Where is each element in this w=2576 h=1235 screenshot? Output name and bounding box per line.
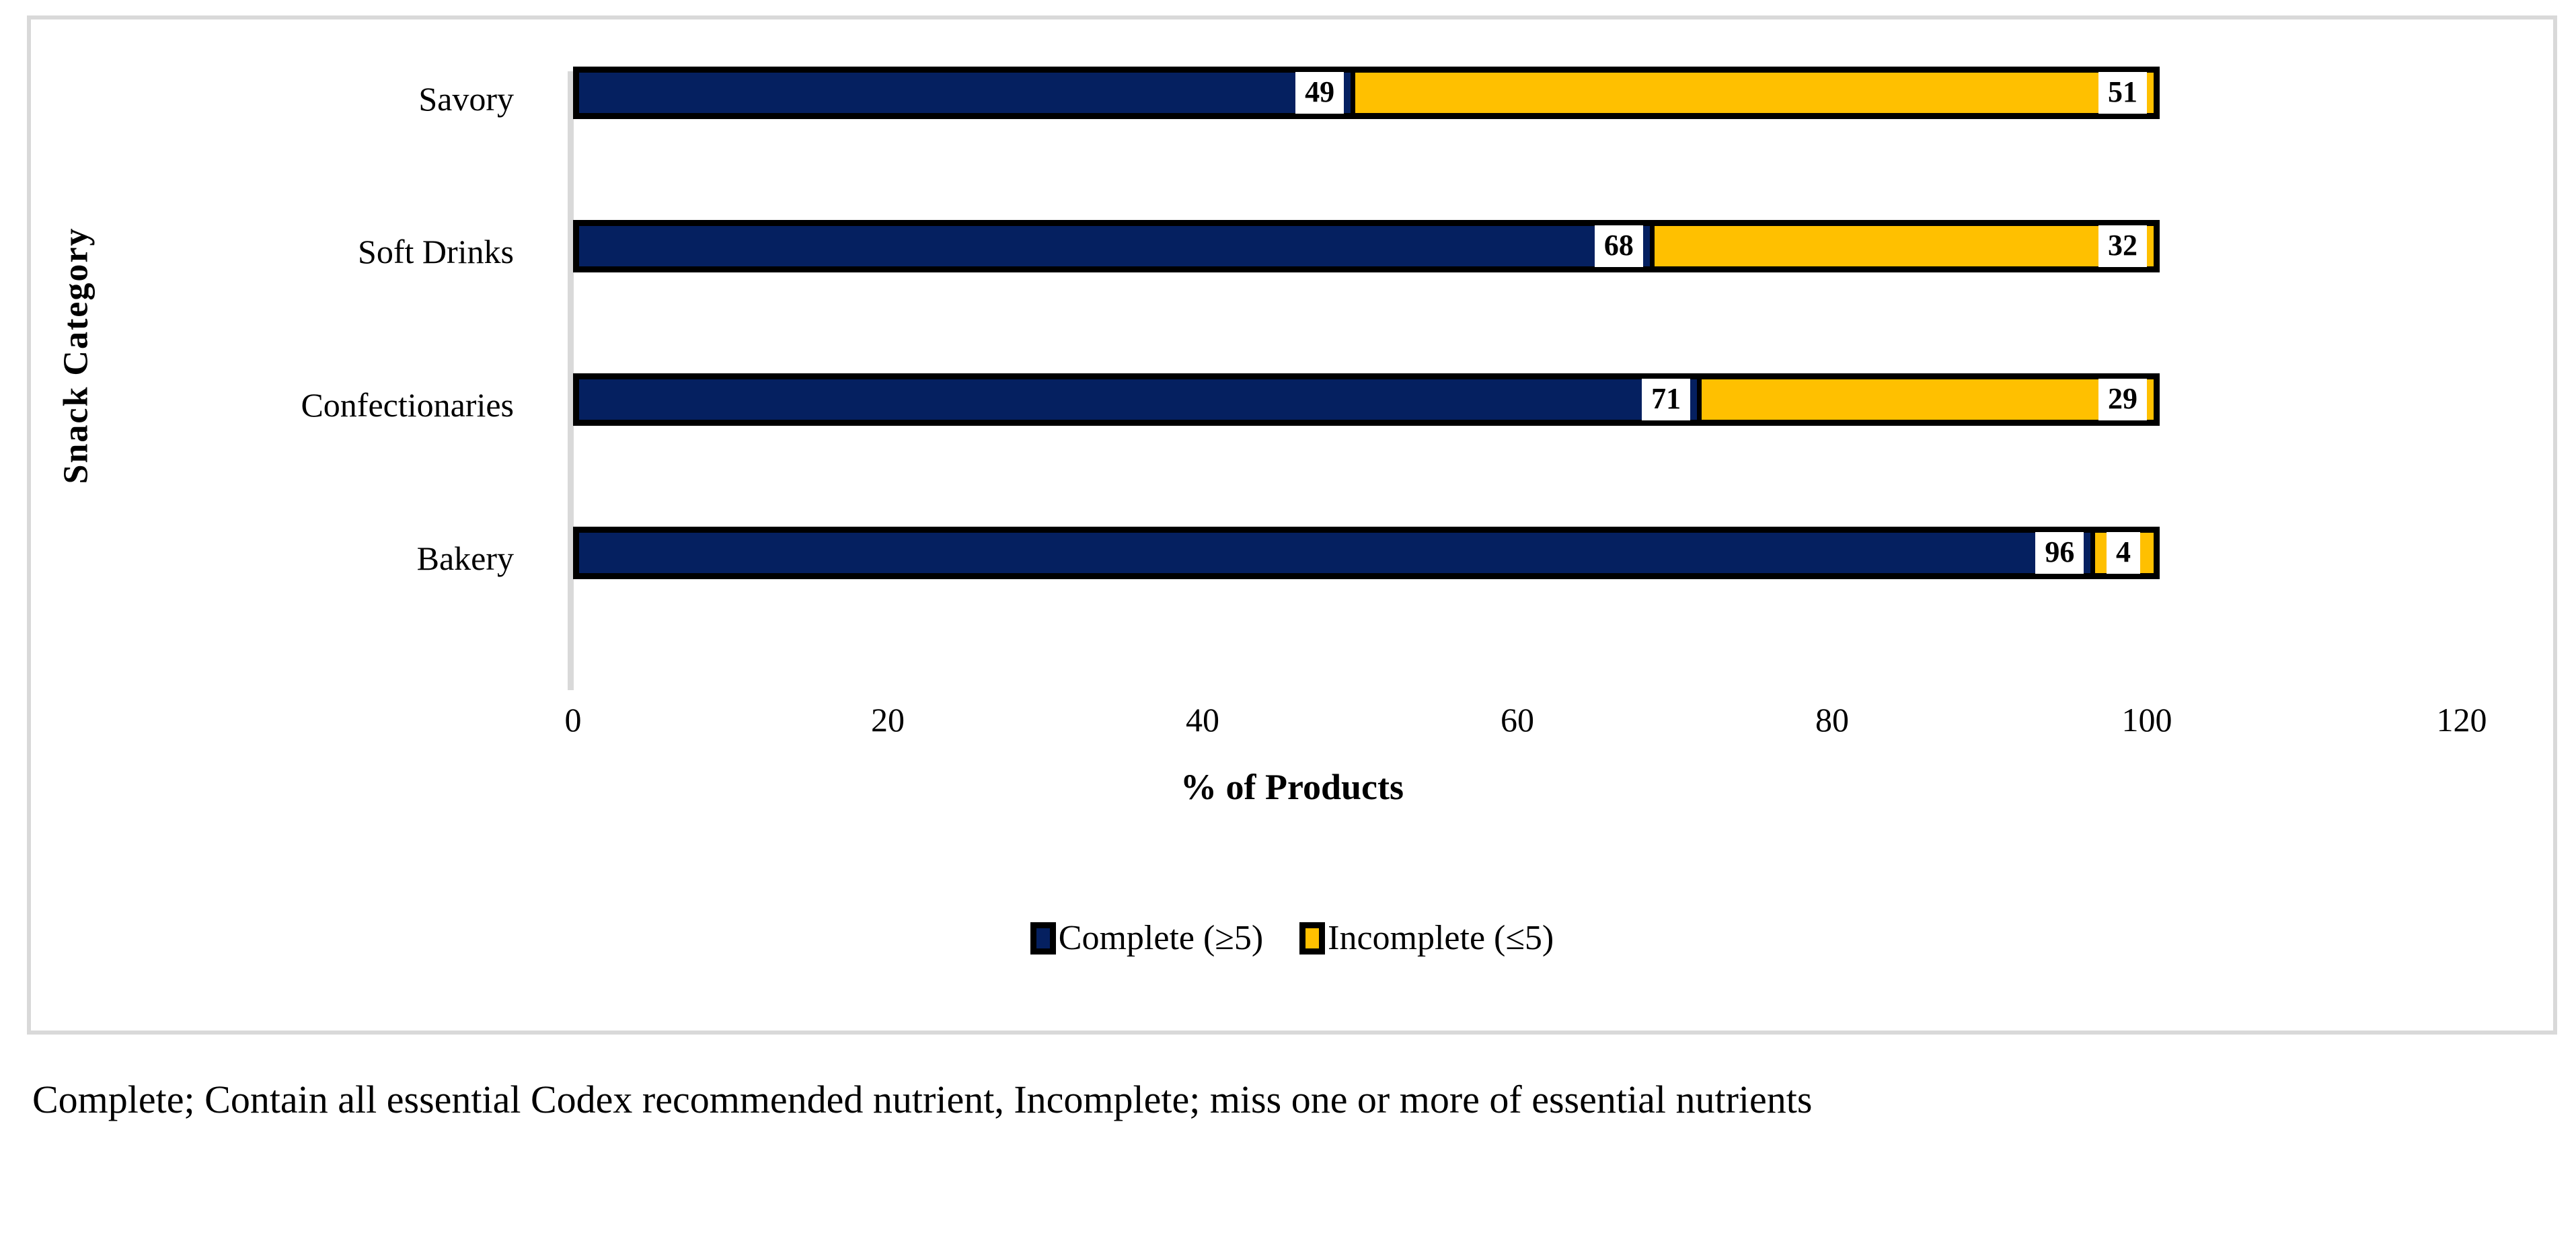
figure-caption: Complete; Contain all essential Codex re…	[32, 1074, 2530, 1125]
x-tick-label-0: 0	[486, 700, 660, 739]
x-tick-label-60: 60	[1430, 700, 1605, 739]
legend-swatch-incomplete-icon	[1299, 922, 1325, 955]
x-tick-label-40: 40	[1115, 700, 1290, 739]
bar-track-bakery: 96 4	[573, 527, 2160, 579]
bar-segment-soft-drinks-complete[interactable]: 68	[579, 226, 1650, 266]
legend-label-incomplete: Incomplete (≤5)	[1328, 921, 1554, 956]
bar-segment-confectionaries-complete[interactable]: 71	[579, 379, 1697, 420]
bar-segment-savory-complete[interactable]: 49	[579, 73, 1351, 113]
legend-label-complete: Complete (≥5)	[1059, 921, 1263, 956]
legend-item-incomplete[interactable]: Incomplete (≤5)	[1299, 921, 1554, 956]
x-axis-title: % of Products	[31, 766, 2553, 808]
x-tick-label-20: 20	[800, 700, 975, 739]
x-tick-label-80: 80	[1745, 700, 1920, 739]
bar-segment-bakery-incomplete[interactable]: 4	[2090, 533, 2154, 573]
legend-item-complete[interactable]: Complete (≥5)	[1030, 921, 1263, 956]
bar-segment-savory-incomplete[interactable]: 51	[1351, 73, 2154, 113]
bar-segment-bakery-complete[interactable]: 96	[579, 533, 2090, 573]
chart-legend: Complete (≥5) Incomplete (≤5)	[31, 921, 2553, 956]
bar-track-confectionaries: 71 29	[573, 373, 2160, 426]
plot-area: Snack Category Savory Soft Drinks Confec…	[31, 20, 2553, 1031]
x-tick-label-120: 120	[2374, 700, 2549, 739]
bar-value-confectionaries-incomplete: 29	[2098, 379, 2147, 420]
bar-value-bakery-complete: 96	[2035, 532, 2084, 574]
bar-value-savory-incomplete: 51	[2098, 72, 2147, 114]
bar-value-confectionaries-complete: 71	[1642, 379, 1690, 420]
bar-value-soft-drinks-incomplete: 32	[2098, 225, 2147, 267]
bar-track-savory: 49 51	[573, 67, 2160, 119]
y-axis-title: Snack Category	[56, 141, 96, 571]
bar-value-soft-drinks-complete: 68	[1595, 225, 1643, 267]
bar-track-soft-drinks: 68 32	[573, 220, 2160, 272]
y-tick-label-savory: Savory	[0, 82, 514, 116]
y-tick-label-confectionaries: Confectionaries	[0, 388, 514, 422]
bar-segment-confectionaries-incomplete[interactable]: 29	[1697, 379, 2154, 420]
y-tick-label-bakery: Bakery	[0, 541, 514, 575]
legend-swatch-complete-icon	[1030, 922, 1056, 955]
bar-segment-soft-drinks-incomplete[interactable]: 32	[1650, 226, 2154, 266]
y-tick-label-soft-drinks: Soft Drinks	[0, 235, 514, 268]
x-tick-label-100: 100	[2059, 700, 2234, 739]
bar-value-bakery-incomplete: 4	[2107, 532, 2140, 574]
chart-container: Snack Category Savory Soft Drinks Confec…	[27, 15, 2557, 1035]
bar-value-savory-complete: 49	[1295, 72, 1344, 114]
